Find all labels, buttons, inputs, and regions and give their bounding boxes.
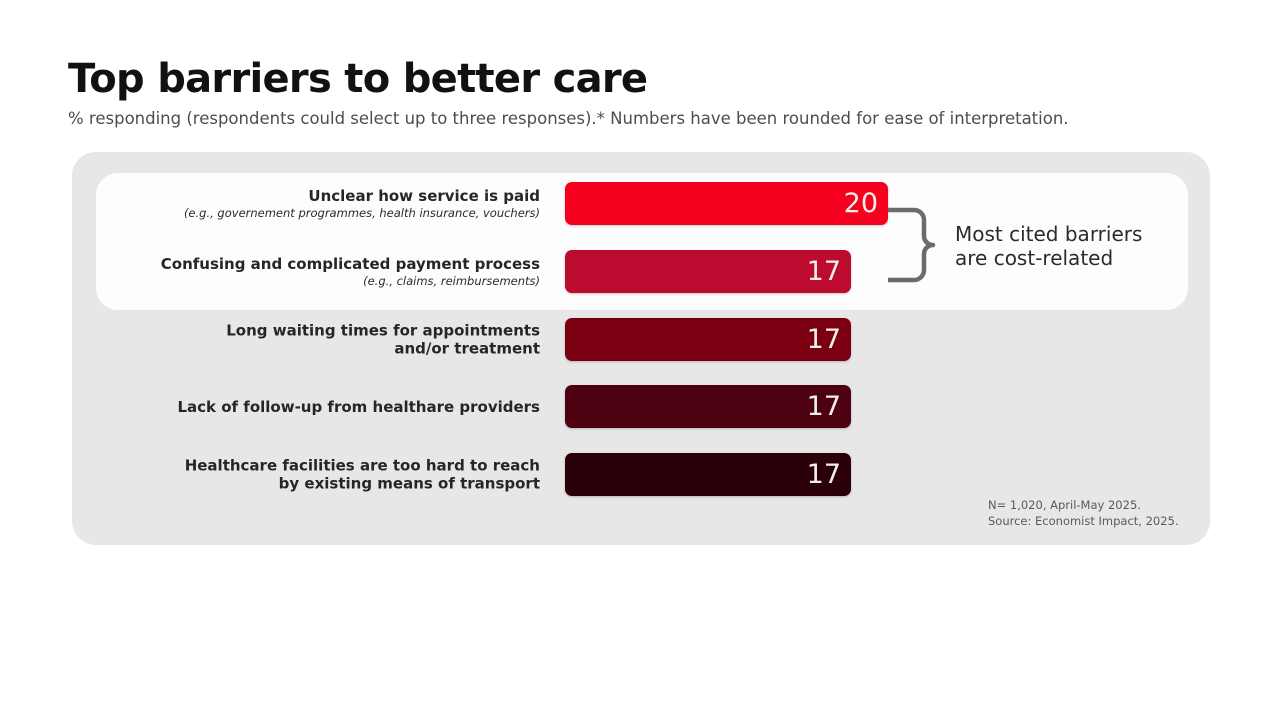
- bar-label: Confusing and complicated payment proces…: [70, 255, 540, 273]
- bar-long-waiting-times[interactable]: 17: [565, 318, 851, 361]
- bar-label-group: Healthcare facilities are too hard to re…: [70, 456, 540, 493]
- bar-track: 17: [565, 318, 851, 361]
- bar-label-group: Long waiting times for appointments and/…: [70, 321, 540, 358]
- bar-label-group: Unclear how service is paid (e.g., gover…: [70, 187, 540, 221]
- bar-label: Long waiting times for appointments and/…: [70, 321, 540, 358]
- bar-label: Unclear how service is paid: [70, 187, 540, 205]
- bar-row: Long waiting times for appointments and/…: [0, 318, 1280, 361]
- bar-value: 17: [807, 461, 851, 488]
- bar-lack-of-follow-up[interactable]: 17: [565, 385, 851, 428]
- bar-value: 20: [844, 190, 888, 217]
- bar-row: Healthcare facilities are too hard to re…: [0, 453, 1280, 496]
- bar-value: 17: [807, 258, 851, 285]
- bar-sublabel: (e.g., claims, reimbursements): [70, 274, 540, 288]
- bar-label-group: Lack of follow-up from healthare provide…: [70, 397, 540, 415]
- bar-track: 17: [565, 453, 851, 496]
- bar-label: Healthcare facilities are too hard to re…: [70, 456, 540, 493]
- bar-track: 17: [565, 250, 851, 293]
- bar-track: 20: [565, 182, 888, 225]
- page-title: Top barriers to better care: [68, 58, 1218, 100]
- bar-row: Lack of follow-up from healthare provide…: [0, 385, 1280, 428]
- curly-brace-icon: [888, 198, 946, 292]
- bar-label-group: Confusing and complicated payment proces…: [70, 255, 540, 289]
- bar-row: Unclear how service is paid (e.g., gover…: [0, 182, 1280, 225]
- bar-confusing-payment-process[interactable]: 17: [565, 250, 851, 293]
- annotation-text: Most cited barriers are cost-related: [955, 222, 1142, 271]
- chart-header: Top barriers to better care % responding…: [68, 58, 1218, 128]
- chart-subtitle: % responding (respondents could select u…: [68, 109, 1218, 128]
- bar-value: 17: [807, 326, 851, 353]
- bar-facilities-too-hard-to-reach[interactable]: 17: [565, 453, 851, 496]
- source-note: N= 1,020, April-May 2025. Source: Econom…: [988, 498, 1179, 529]
- bar-label: Lack of follow-up from healthare provide…: [70, 397, 540, 415]
- bar-sublabel: (e.g., governement programmes, health in…: [70, 206, 540, 220]
- bar-track: 17: [565, 385, 851, 428]
- bar-value: 17: [807, 393, 851, 420]
- bar-unclear-how-service-is-paid[interactable]: 20: [565, 182, 888, 225]
